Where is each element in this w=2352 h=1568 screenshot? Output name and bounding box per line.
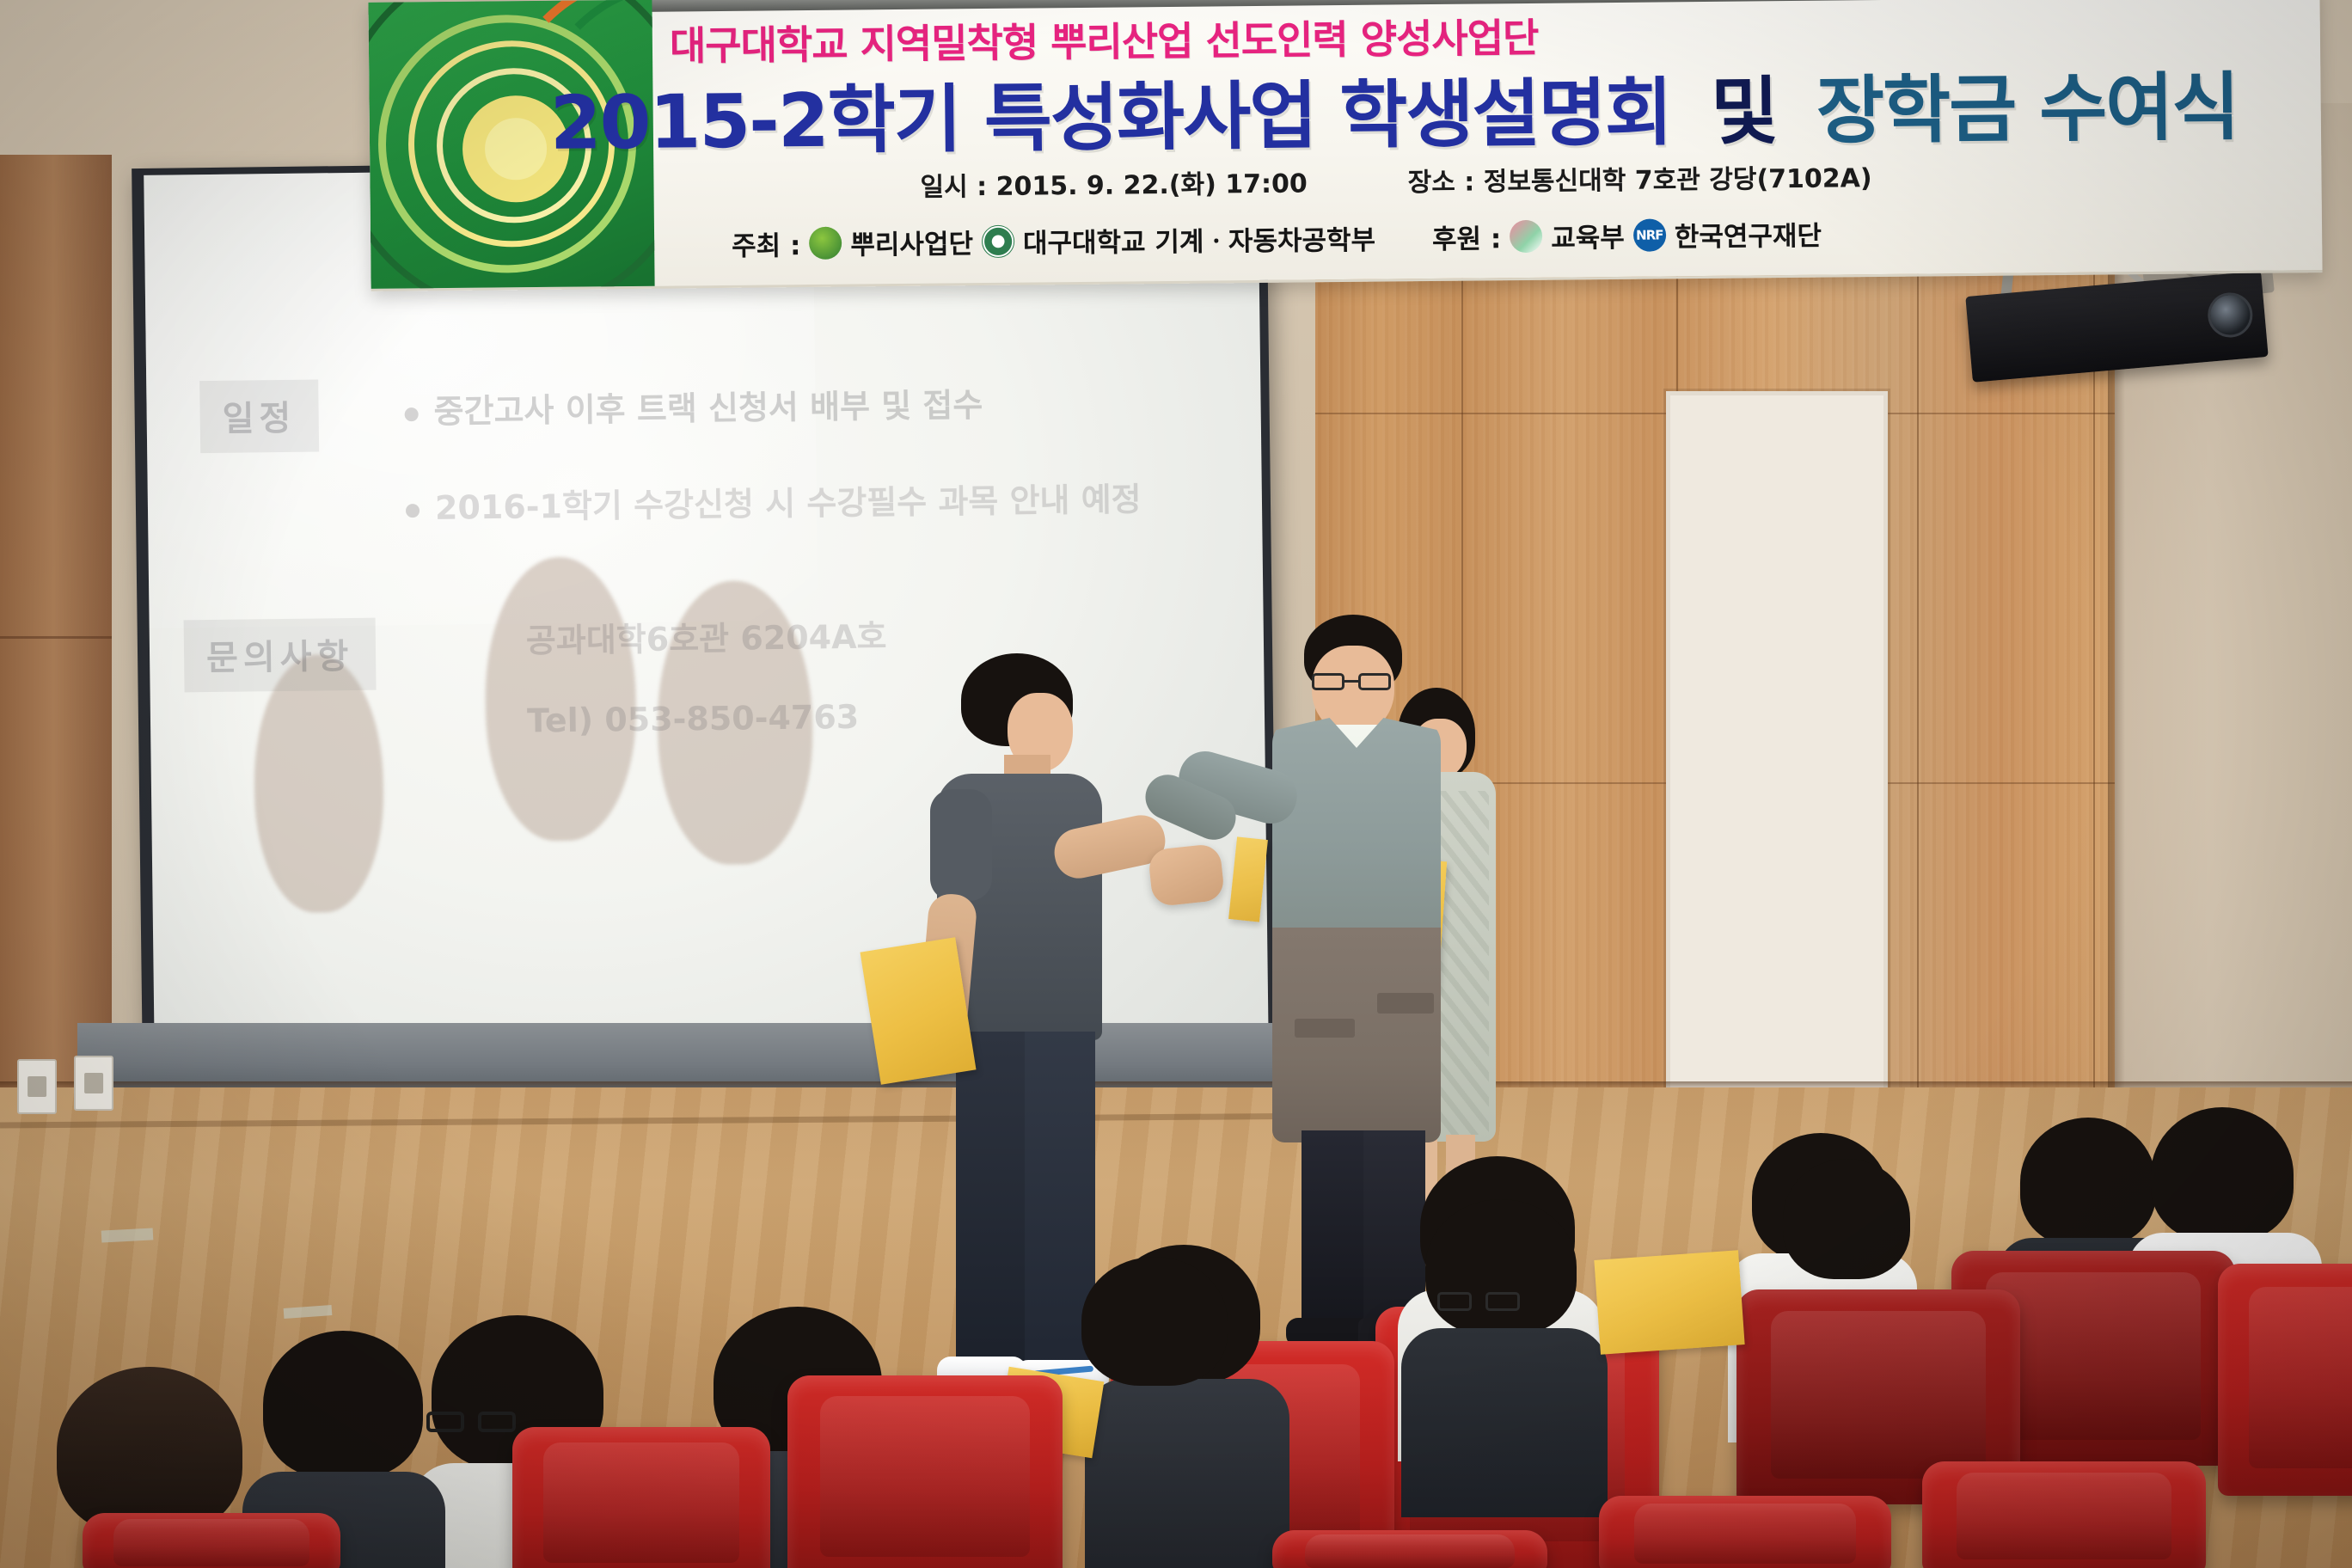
banner-title-main: 2015-2학기 특성화사업 학생설명회 bbox=[549, 70, 1671, 167]
banner-sponsor-org1: 교육부 bbox=[1551, 216, 1625, 255]
auditorium-seat[interactable] bbox=[512, 1427, 770, 1568]
auditorium-seat[interactable] bbox=[1272, 1530, 1547, 1568]
seated-audience bbox=[1417, 1199, 1589, 1474]
audience-hair bbox=[1425, 1199, 1577, 1335]
slide-contact-tel: Tel) 053-850-4763 bbox=[527, 698, 860, 740]
banner-host-label: 주최 : bbox=[732, 224, 801, 263]
jacket-pocket-flap bbox=[1295, 1019, 1355, 1038]
auditorium-seat[interactable] bbox=[83, 1513, 340, 1568]
event-banner: 대구대학교 지역밀착형 뿌리산업 선도인력 양성사업단 2015-2학기 특성화… bbox=[368, 0, 2322, 291]
audience-hair bbox=[57, 1367, 242, 1535]
auditorium-seat[interactable] bbox=[2218, 1264, 2352, 1496]
ministry-of-education-logo-icon bbox=[1510, 219, 1542, 252]
slide-section-label-schedule: 일정 bbox=[199, 379, 319, 453]
bullet-icon bbox=[405, 407, 419, 421]
root-industry-logo-icon bbox=[809, 226, 842, 259]
banner-datetime: 일시 : 2015. 9. 22.(화) 17:00 bbox=[920, 168, 1308, 202]
photo-scene: 일정 중간고사 이후 트랙 신청서 배부 및 접수 2016-1학기 수강신청 … bbox=[0, 0, 2352, 1568]
professor-leg bbox=[1302, 1130, 1363, 1328]
handshake bbox=[1148, 843, 1225, 907]
student-leg bbox=[956, 1032, 1026, 1367]
left-wood-column bbox=[0, 155, 112, 1092]
university-emblem-icon bbox=[982, 224, 1014, 257]
audience-glasses-icon bbox=[1437, 1292, 1520, 1311]
banner-sponsor-label: 후원 : bbox=[1432, 217, 1502, 256]
banner-host-org2: 대구대학교 기계ㆍ자동차공학부 bbox=[1023, 218, 1375, 260]
wall-outlet bbox=[74, 1056, 113, 1111]
banner-sponsor-org2: 한국연구재단 bbox=[1675, 214, 1822, 254]
glasses-icon bbox=[1312, 673, 1391, 690]
audience-glasses-icon bbox=[426, 1412, 516, 1432]
banner-host-org1: 뿌리사업단 bbox=[850, 222, 973, 261]
banner-title-and: 및 bbox=[1710, 69, 1777, 156]
audience-hair bbox=[2151, 1107, 2294, 1241]
audience-hair bbox=[1081, 1257, 1228, 1386]
jacket-pocket-flap bbox=[1377, 993, 1434, 1014]
auditorium-seat[interactable] bbox=[787, 1375, 1063, 1568]
banner-info-line: 일시 : 2015. 9. 22.(화) 17:00 장소 : 정보통신대학 7… bbox=[920, 156, 1872, 204]
nrf-logo-icon: NRF bbox=[1633, 218, 1666, 251]
yellow-award-envelope[interactable] bbox=[1594, 1250, 1744, 1354]
banner-title: 2015-2학기 특성화사업 학생설명회 및 장학금 수여식 bbox=[549, 46, 2321, 170]
slide-bullet-2: 2016-1학기 수강신청 시 수강필수 과목 안내 예정 bbox=[406, 473, 1142, 529]
student-sleeve bbox=[930, 789, 992, 901]
seated-audience bbox=[1063, 1257, 1234, 1532]
slide-contact-room: 공과대학6호관 6204A호 bbox=[526, 609, 887, 661]
audience-hair bbox=[263, 1331, 423, 1479]
banner-credits-line: 주최 : 뿌리사업단 대구대학교 기계ㆍ자동차공학부 후원 : 교육부 NRF … bbox=[732, 214, 1822, 263]
banner-title-award: 장학금 수여식 bbox=[1816, 64, 2239, 155]
auditorium-seat[interactable] bbox=[1922, 1461, 2206, 1568]
slide-bullet-1: 중간고사 이후 트랙 신청서 배부 및 접수 bbox=[404, 378, 983, 432]
bullet-icon bbox=[406, 504, 420, 518]
slide-section-label-contact: 문의사항 bbox=[184, 618, 377, 693]
audience-shirt bbox=[1401, 1328, 1608, 1517]
professor-jacket-upper bbox=[1272, 718, 1441, 933]
projector-lens bbox=[2206, 291, 2254, 339]
wall-outlet bbox=[17, 1059, 57, 1114]
auditorium-seat[interactable] bbox=[1599, 1496, 1891, 1568]
audience-hair bbox=[1783, 1159, 1910, 1279]
banner-venue: 장소 : 정보통신대학 7호관 강당(7102A) bbox=[1407, 163, 1871, 198]
yellow-award-envelope[interactable] bbox=[860, 937, 976, 1085]
